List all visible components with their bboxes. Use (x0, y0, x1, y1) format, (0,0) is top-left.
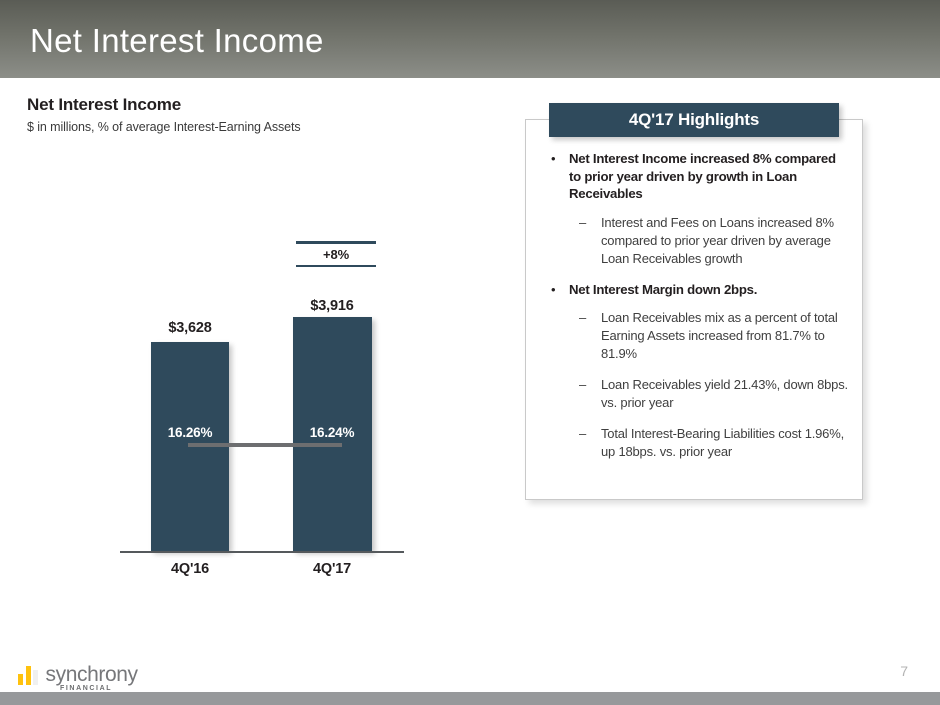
logo-bar-1 (18, 674, 23, 685)
chart-panel: Net Interest Income $ in millions, % of … (0, 78, 510, 638)
highlight-item: •Net Interest Income increased 8% compar… (539, 150, 849, 203)
dash-icon: – (579, 214, 601, 268)
net-interest-margin-line (188, 443, 342, 447)
growth-label: +8% (296, 244, 376, 265)
dash-icon: – (579, 425, 601, 461)
chart-axis-line (120, 551, 404, 553)
highlight-item-text: Interest and Fees on Loans increased 8% … (601, 214, 849, 268)
bullet-icon: • (551, 150, 569, 203)
highlight-item: –Loan Receivables mix as a percent of to… (539, 309, 849, 363)
company-logo: synchrony (18, 663, 138, 685)
bar-value-label-0: $3,628 (130, 320, 250, 336)
growth-rule-bottom (296, 265, 376, 268)
highlight-item-text: Loan Receivables yield 21.43%, down 8bps… (601, 376, 849, 412)
category-label-0: 4Q'16 (130, 561, 250, 577)
bar-margin-label-0: 16.26% (130, 425, 250, 440)
highlight-item: –Loan Receivables yield 21.43%, down 8bp… (539, 376, 849, 412)
highlights-header: 4Q'17 Highlights (549, 103, 839, 137)
highlight-item-text: Net Interest Income increased 8% compare… (569, 150, 849, 203)
footer-bar (0, 692, 940, 705)
highlight-item: –Interest and Fees on Loans increased 8%… (539, 214, 849, 268)
page-title: Net Interest Income (30, 22, 324, 60)
logo-wordmark: synchrony (46, 664, 138, 685)
highlight-item-text: Total Interest-Bearing Liabilities cost … (601, 425, 849, 461)
page-number: 7 (900, 663, 908, 679)
highlight-item-text: Loan Receivables mix as a percent of tot… (601, 309, 849, 363)
dash-icon: – (579, 309, 601, 363)
highlight-item: •Net Interest Margin down 2bps. (539, 281, 849, 299)
bullet-icon: • (551, 281, 569, 299)
dash-icon: – (579, 376, 601, 412)
growth-badge: +8% (296, 241, 376, 267)
logo-bar-3 (33, 670, 38, 685)
highlight-item-text: Net Interest Margin down 2bps. (569, 281, 849, 299)
slide-header-banner: Net Interest Income (0, 0, 940, 78)
synchrony-logo-icon (18, 663, 41, 685)
bar-margin-label-1: 16.24% (272, 425, 392, 440)
logo-bar-2 (26, 666, 31, 685)
bar-chart-plot-area: +8% $3,628 16.26% $3,916 16.24% 4Q'16 4Q… (0, 78, 510, 638)
highlight-item: –Total Interest-Bearing Liabilities cost… (539, 425, 849, 461)
category-label-1: 4Q'17 (272, 561, 392, 577)
highlights-list: •Net Interest Income increased 8% compar… (525, 150, 863, 474)
bar-value-label-1: $3,916 (272, 298, 392, 314)
logo-subtext: FINANCIAL (60, 685, 112, 692)
